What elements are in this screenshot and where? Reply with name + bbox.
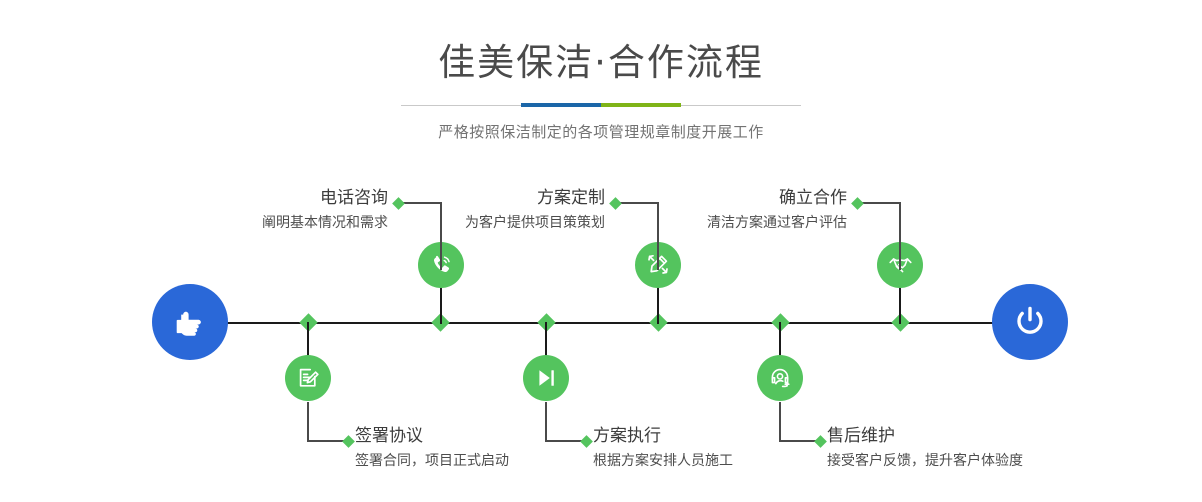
label-step-5-title: 确立合作: [707, 188, 847, 209]
label-step-6: 售后维护 接受客户反馈，提升客户体验度: [827, 426, 1023, 471]
label-step-1: 电话咨询 阐明基本情况和需求: [262, 188, 388, 233]
label-step-2: 签署协议 签署合同，项目正式启动: [355, 426, 509, 471]
label-step-4-desc: 根据方案安排人员施工: [593, 452, 733, 471]
connector-v-step-3: [657, 202, 659, 270]
page-title: 佳美保洁·合作流程: [0, 44, 1202, 81]
label-step-4: 方案执行 根据方案安排人员施工: [593, 426, 733, 471]
connector-v-step-1: [440, 202, 442, 270]
label-step-4-title: 方案执行: [593, 426, 733, 447]
divider-segment-green: [601, 103, 681, 107]
label-step-3-desc: 为客户提供项目策策划: [465, 214, 605, 233]
timeline-start-node[interactable]: [152, 284, 228, 360]
label-step-5: 确立合作 清洁方案通过客户评估: [707, 188, 847, 233]
node-step-6[interactable]: [757, 355, 803, 401]
label-step-3: 方案定制 为客户提供项目策策划: [465, 188, 605, 233]
connector-tip-step-3: [609, 197, 622, 210]
label-step-2-desc: 签署合同，项目正式启动: [355, 452, 509, 471]
headset-support-icon: [767, 365, 793, 391]
connector-v-step-4: [545, 402, 547, 441]
page-header: 佳美保洁·合作流程 严格按照保洁制定的各项管理规章制度开展工作: [0, 0, 1202, 142]
timeline-end-node[interactable]: [992, 284, 1068, 360]
node-step-2[interactable]: [285, 355, 331, 401]
label-step-6-title: 售后维护: [827, 426, 1023, 447]
page-subtitle: 严格按照保洁制定的各项管理规章制度开展工作: [0, 121, 1202, 142]
node-step-4[interactable]: [523, 355, 569, 401]
label-step-1-desc: 阐明基本情况和需求: [262, 214, 388, 233]
power-icon: [1009, 301, 1051, 343]
connector-v-step-5: [899, 202, 901, 270]
play-forward-icon: [533, 365, 559, 391]
flow-timeline: 电话咨询 阐明基本情况和需求 方案定制 为客户提供项目策策划 确立合作 清洁方案…: [0, 150, 1202, 502]
connector-tip-step-5: [851, 197, 864, 210]
document-edit-icon: [295, 365, 321, 391]
connector-tip-step-6: [814, 435, 827, 448]
label-step-6-desc: 接受客户反馈，提升客户体验度: [827, 452, 1023, 471]
label-step-1-title: 电话咨询: [262, 188, 388, 209]
title-divider: [401, 103, 801, 107]
label-step-3-title: 方案定制: [465, 188, 605, 209]
connector-v-step-2: [307, 402, 309, 441]
label-step-2-title: 签署协议: [355, 426, 509, 447]
flow-diagram-page: 佳美保洁·合作流程 严格按照保洁制定的各项管理规章制度开展工作: [0, 0, 1202, 502]
connector-v-step-6: [779, 402, 781, 441]
label-step-5-desc: 清洁方案通过客户评估: [707, 214, 847, 233]
connector-tip-step-4: [580, 435, 593, 448]
divider-segment-blue: [521, 103, 601, 107]
connector-tip-step-1: [392, 197, 405, 210]
pointing-hand-icon: [170, 302, 210, 342]
connector-tip-step-2: [342, 435, 355, 448]
